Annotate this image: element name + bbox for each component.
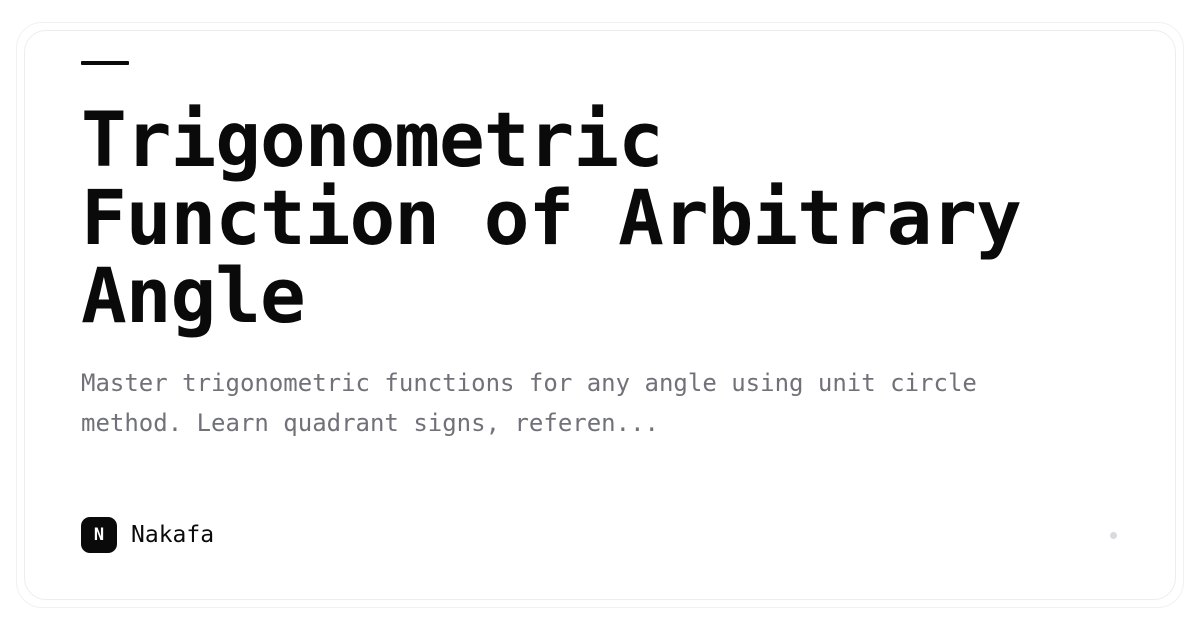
content-spacer: [81, 443, 1119, 517]
og-card-canvas: Trigonometric Function of Arbitrary Angl…: [0, 0, 1200, 630]
nakafa-logo-icon: N: [81, 517, 117, 553]
accent-rule: [81, 61, 129, 65]
page-description: Master trigonometric functions for any a…: [81, 363, 1026, 443]
brand-name-label: Nakafa: [131, 524, 214, 547]
card-footer: N Nakafa: [81, 517, 1119, 553]
page-title: Trigonometric Function of Arbitrary Angl…: [81, 101, 1041, 335]
brand-lockup[interactable]: N Nakafa: [81, 517, 214, 553]
content-card: Trigonometric Function of Arbitrary Angl…: [24, 30, 1176, 600]
status-dot-icon: [1110, 532, 1117, 539]
